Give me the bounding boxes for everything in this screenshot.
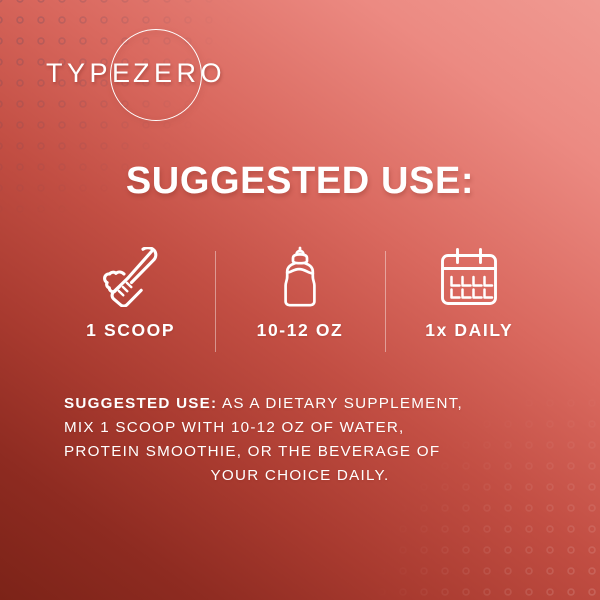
feature-label-scoop: 1 SCOOP — [86, 320, 175, 341]
body-copy-line-3: PROTEIN SMOOTHIE, OR THE BEVERAGE OF — [64, 440, 536, 464]
body-copy-line-2: MIX 1 SCOOP WITH 10-12 OZ OF WATER, — [64, 416, 536, 440]
body-copy: SUGGESTED USE: AS A DIETARY SUPPLEMENT, … — [64, 392, 536, 488]
page-title: SUGGESTED USE: — [0, 160, 600, 203]
body-copy-line-4: YOUR CHOICE DAILY. — [64, 464, 536, 488]
calendar-icon — [438, 246, 500, 308]
body-copy-paragraph: SUGGESTED USE: AS A DIETARY SUPPLEMENT, … — [64, 392, 536, 488]
body-copy-line-1: SUGGESTED USE: AS A DIETARY SUPPLEMENT, — [64, 392, 536, 416]
water-bottle-icon — [277, 246, 323, 308]
body-copy-lead: SUGGESTED USE: — [64, 395, 217, 412]
feature-item-frequency: 1x DAILY — [385, 246, 554, 350]
suggested-use-panel: TYPE ZERO SUGGESTED USE: — [0, 0, 600, 600]
feature-label-frequency: 1x DAILY — [425, 320, 513, 341]
brand-word-zero: ZERO — [133, 60, 226, 87]
scoop-icon — [102, 246, 160, 308]
feature-row: 1 SCOOP 10-12 OZ — [46, 246, 554, 350]
feature-label-volume: 10-12 OZ — [257, 320, 344, 341]
feature-item-scoop: 1 SCOOP — [46, 246, 215, 350]
brand-logo: TYPE ZERO — [44, 38, 274, 130]
feature-item-volume: 10-12 OZ — [215, 246, 384, 350]
body-copy-line-1-rest: AS A DIETARY SUPPLEMENT, — [217, 395, 463, 412]
